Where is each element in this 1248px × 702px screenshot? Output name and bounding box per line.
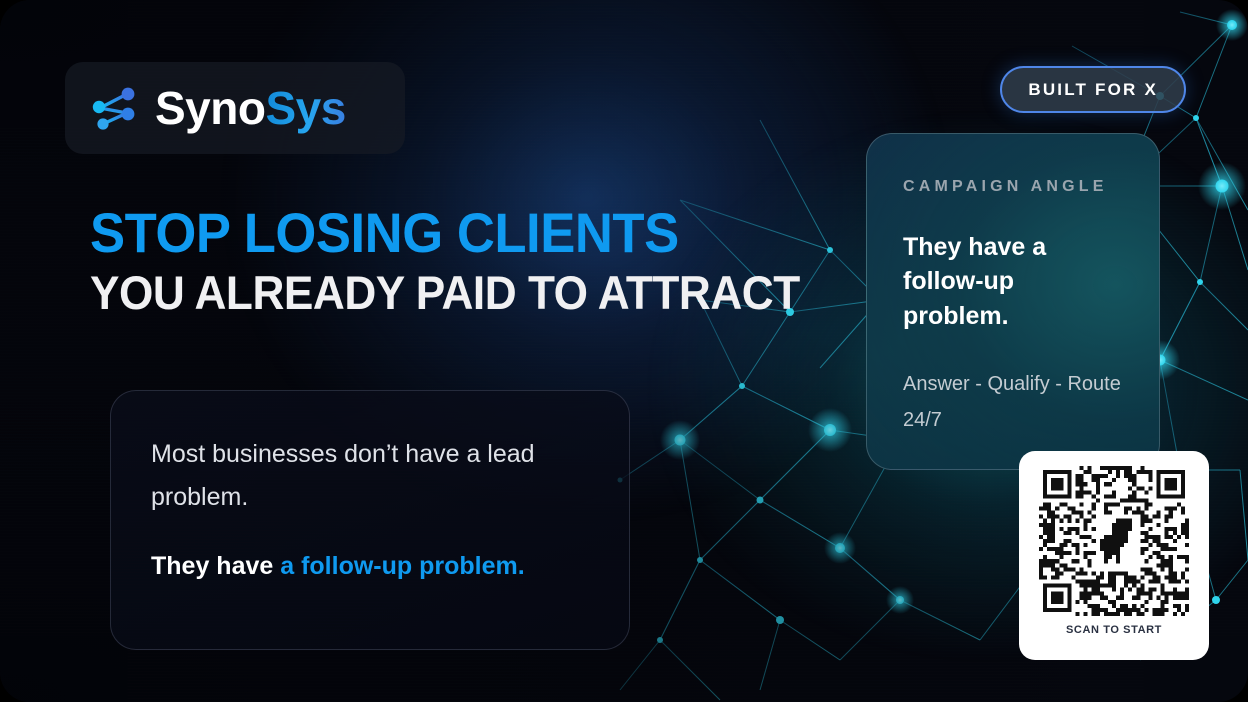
badge-label: BUILT FOR X: [1028, 80, 1158, 100]
headline-line-2: YOU ALREADY PAID TO ATTRACT: [90, 271, 710, 316]
body-paragraph-2: They have a follow-up problem.: [151, 545, 589, 588]
headline-line-1: STOP LOSING CLIENTS: [90, 206, 710, 259]
body-paragraph-1: Most businesses don’t have a lead proble…: [151, 433, 589, 519]
page-title: STOP LOSING CLIENTS YOU ALREADY PAID TO …: [90, 206, 750, 316]
body-paragraph-2-lead: They have: [151, 552, 280, 580]
built-for-x-badge[interactable]: BUILT FOR X: [1000, 66, 1186, 113]
campaign-angle-card: CAMPAIGN ANGLE They have a follow-up pro…: [866, 133, 1160, 470]
campaign-angle-subtext: Answer - Qualify - Route 24/7: [903, 367, 1125, 438]
campaign-angle-label: CAMPAIGN ANGLE: [903, 172, 1125, 202]
brand-logo[interactable]: SynoSys: [65, 62, 405, 154]
poster-canvas: SynoSys BUILT FOR X STOP LOSING CLIENTS …: [0, 0, 1248, 702]
brand-name-secondary: Sys: [265, 82, 345, 134]
qr-code-card[interactable]: SCAN TO START: [1019, 451, 1209, 660]
qr-code-holder: [1039, 466, 1189, 616]
campaign-angle-headline: They have a follow-up problem.: [903, 230, 1125, 334]
qr-code-icon: [1039, 466, 1189, 616]
brand-name-primary: Syno: [155, 82, 265, 134]
brand-wordmark: SynoSys: [155, 85, 346, 131]
body-paragraph-2-accent: a follow-up problem.: [280, 552, 524, 580]
share-nodes-icon: [91, 84, 139, 132]
body-copy-card: Most businesses don’t have a lead proble…: [110, 390, 630, 650]
qr-caption: SCAN TO START: [1066, 624, 1162, 636]
